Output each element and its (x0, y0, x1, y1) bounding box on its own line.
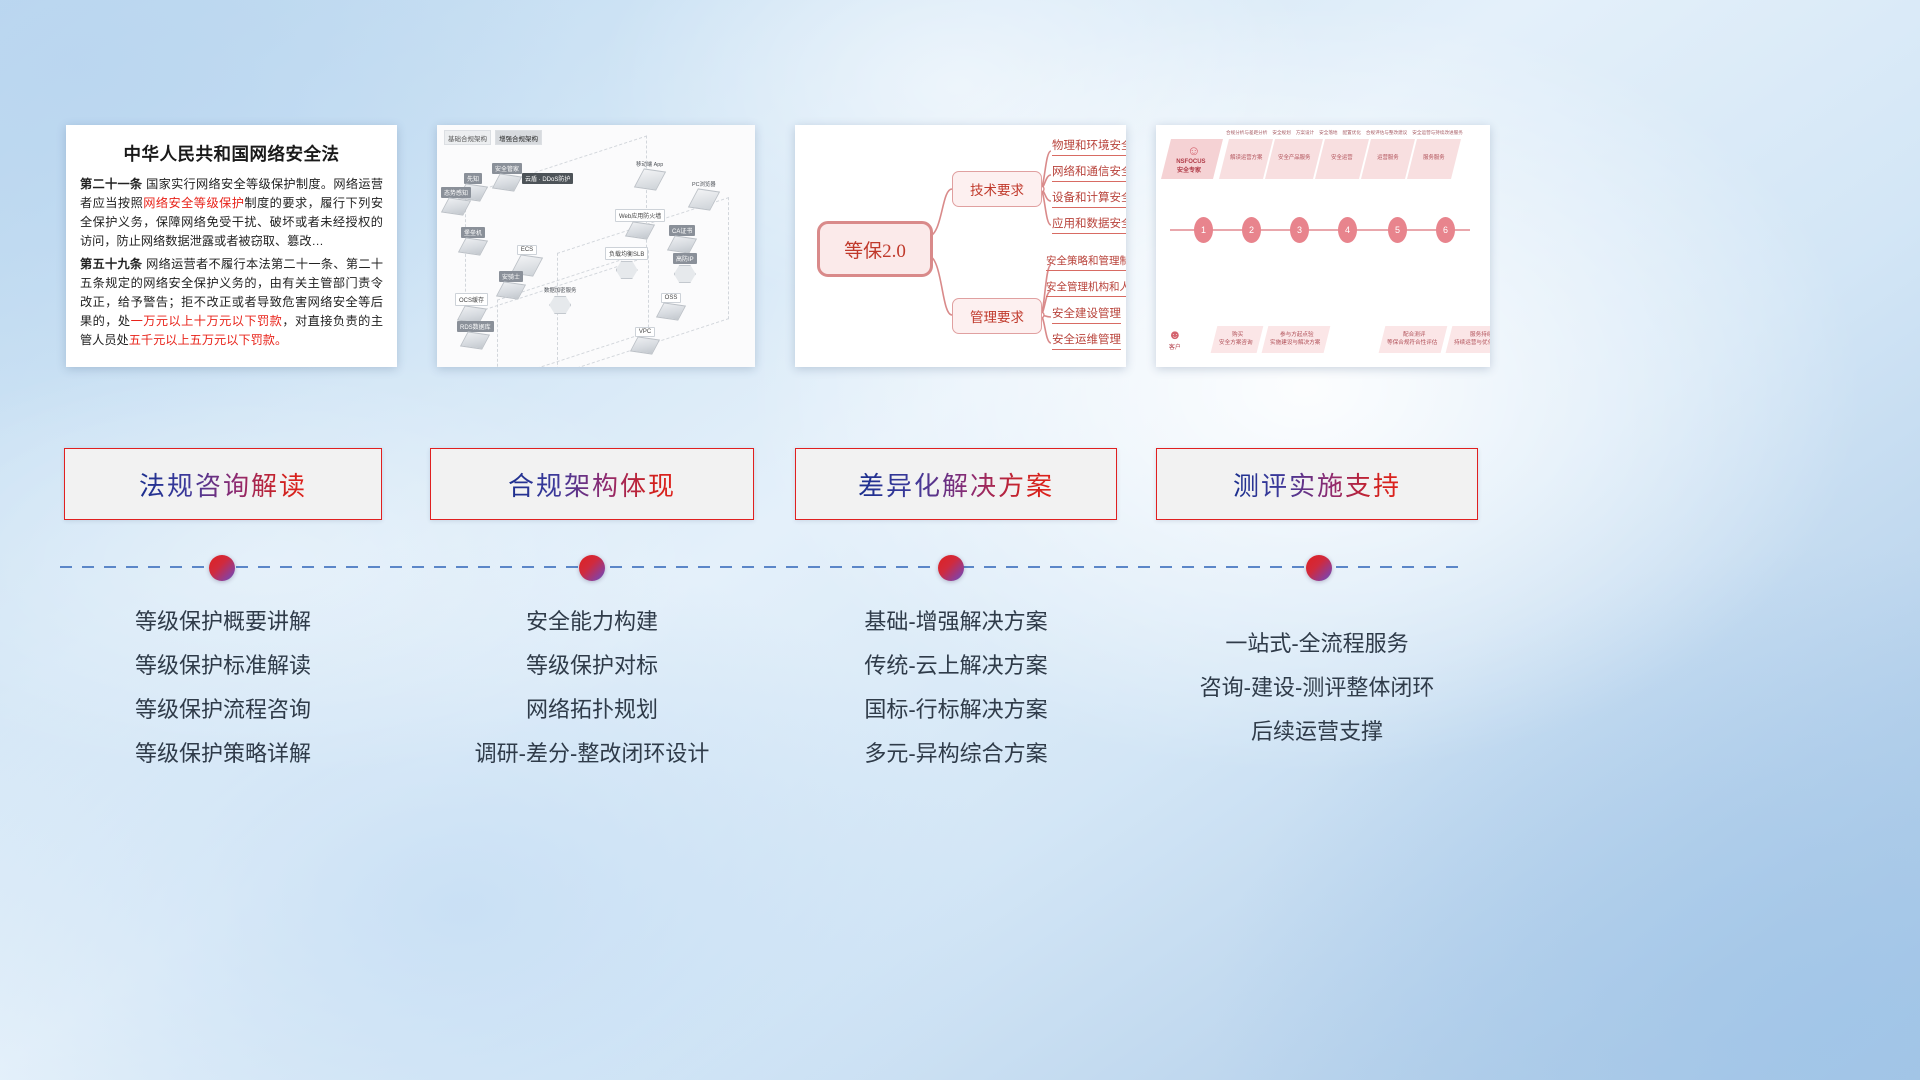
card-architecture-diagram[interactable]: 基础合规架构 增强合规架构 云盾 · DDoS防护 安全管家 先知 态势感知 (437, 125, 755, 367)
node-situational-awareness: 态势感知 (441, 187, 471, 214)
list-item: 咨询-建设-测评整体闭环 (1156, 666, 1478, 710)
nsfocus-customer-badge: ☻ 客户 (1168, 327, 1182, 351)
list-item: 网络拓扑规划 (430, 688, 754, 732)
node-slb: 负载均衡SLB (605, 247, 648, 279)
foot-chip-0: 购买安全方案咨询 (1211, 326, 1263, 353)
card-law-document[interactable]: 中华人民共和国网络安全法 第二十一条 国家实行网络安全等级保护制度。网络运营者应… (66, 125, 397, 367)
section-header-label: 合规架构体现 (508, 466, 676, 503)
node-ca-certificate: CA证书 (669, 225, 695, 252)
node-cloud-shield: 云盾 · DDoS防护 (522, 173, 573, 184)
nsfocus-small-labels: 合规分析与差距分析 安全规划 方案设计 安全落地 配置优化 合规评估与整改建议 … (1226, 130, 1463, 136)
section-header-regulation-consulting[interactable]: 法规咨询解读 (64, 448, 382, 520)
nsfocus-expert-badge: ☺ NSFOCUS 安全专家 (1161, 139, 1223, 179)
article-21-label: 第二十一条 (80, 177, 142, 191)
node-security-butler: 安全管家 (492, 163, 522, 190)
timeline-dot-3[interactable] (938, 555, 964, 581)
timeline-dashed-line (60, 566, 1460, 568)
mindmap-leaf-policy: 安全策略和管理制度 (1046, 253, 1126, 271)
node-data-encryption: 数据加密服务 (541, 285, 579, 314)
card-nsfocus-timeline[interactable]: 解读运营方案 安全产品服务 安全运营 运营服务 服务服务 ☺ NSFOCUS 安… (1156, 125, 1490, 367)
node-anti-ddos-ip: 高防IP (673, 253, 697, 283)
foot-chip-3: 服务持续持续运营与优化服务 (1446, 326, 1490, 353)
timeline-dot-4[interactable] (1306, 555, 1332, 581)
list-item: 安全能力构建 (430, 600, 754, 644)
section-header-label: 测评实施支持 (1233, 466, 1401, 503)
step-marker-3: 3 (1290, 217, 1309, 243)
node-vpc: VPC (633, 327, 657, 353)
list-item: 多元-异构综合方案 (795, 732, 1117, 776)
band-chip-0: 解读运营方案 (1219, 139, 1273, 179)
foot-chip-1: 参与方起点验实施建设与解决方案 (1261, 326, 1330, 353)
list-item: 等级保护策略详解 (64, 732, 382, 776)
tab-basic-compliance[interactable]: 基础合规架构 (444, 130, 491, 145)
list-item: 传统-云上解决方案 (795, 644, 1117, 688)
section-header-label: 法规咨询解读 (139, 466, 307, 503)
tab-enhanced-compliance[interactable]: 增强合规架构 (495, 130, 542, 145)
timeline-dot-2[interactable] (579, 555, 605, 581)
list-item: 等级保护流程咨询 (64, 688, 382, 732)
step-marker-2: 2 (1242, 217, 1261, 243)
customer-person-icon: ☻ (1168, 327, 1182, 342)
article-59-highlight-1: 一万元以上十万元以下罚款 (131, 314, 283, 328)
node-oss: OSS (659, 293, 683, 319)
list-item: 国标-行标解决方案 (795, 688, 1117, 732)
node-bastion-host: 堡垒机 (461, 227, 485, 254)
node-waf: Web应用防火墙 (615, 209, 665, 238)
step-marker-5: 5 (1388, 217, 1407, 243)
section-header-compliance-architecture[interactable]: 合规架构体现 (430, 448, 754, 520)
band-chip-4: 服务服务 (1407, 139, 1461, 179)
band-chip-1: 安全产品服务 (1265, 139, 1323, 179)
detail-column-regulation: 等级保护概要讲解 等级保护标准解读 等级保护流程咨询 等级保护策略详解 (64, 600, 382, 776)
mindmap-leaf-physical: 物理和环境安全 (1052, 137, 1126, 156)
step-marker-6: 6 (1436, 217, 1455, 243)
section-header-differentiated-solution[interactable]: 差异化解决方案 (795, 448, 1117, 520)
detail-column-solution: 基础-增强解决方案 传统-云上解决方案 国标-行标解决方案 多元-异构综合方案 (795, 600, 1117, 776)
list-item: 等级保护概要讲解 (64, 600, 382, 644)
section-header-label: 差异化解决方案 (858, 466, 1054, 503)
mindmap-leaf-organization: 安全管理机构和人员 (1046, 279, 1126, 297)
expert-brand: NSFOCUS (1177, 158, 1206, 166)
band-chip-2: 安全运营 (1315, 139, 1369, 179)
timeline-dot-1[interactable] (209, 555, 235, 581)
expert-person-icon: ☺ (1187, 143, 1200, 158)
mindmap-branch-management: 管理要求 (952, 298, 1042, 334)
architecture-tabs: 基础合规架构 增强合规架构 (444, 130, 542, 145)
law-article-21: 第二十一条 国家实行网络安全等级保护制度。网络运营者应当按照网络安全等级保护制度… (80, 175, 383, 252)
list-item: 等级保护对标 (430, 644, 754, 688)
node-ocs-cache: OCS缓存 (455, 293, 488, 322)
law-title: 中华人民共和国网络安全法 (80, 141, 383, 166)
foot-chip-2: 配合测评等保合规符合性评估 (1379, 326, 1448, 353)
article-59-label: 第五十九条 (80, 257, 142, 271)
detail-column-assessment: 一站式-全流程服务 咨询-建设-测评整体闭环 后续运营支撑 (1156, 600, 1478, 754)
expert-role: 安全专家 (1177, 167, 1201, 175)
step-marker-1: 1 (1194, 217, 1213, 243)
mindmap-branch-technical: 技术要求 (952, 171, 1042, 207)
list-item: 基础-增强解决方案 (795, 600, 1117, 644)
section-header-assessment-support[interactable]: 测评实施支持 (1156, 448, 1478, 520)
list-item: 调研-差分-整改闭环设计 (430, 732, 754, 776)
illustration-card-row: 中华人民共和国网络安全法 第二十一条 国家实行网络安全等级保护制度。网络运营者应… (0, 125, 1920, 367)
node-anqishi: 安骑士 (499, 271, 523, 298)
nsfocus-canvas: 解读运营方案 安全产品服务 安全运营 运营服务 服务服务 ☺ NSFOCUS 安… (1156, 125, 1490, 367)
mindmap-leaf-network: 网络和通信安全 (1052, 163, 1126, 182)
detail-column-architecture: 安全能力构建 等级保护对标 网络拓扑规划 调研-差分-整改闭环设计 (430, 600, 754, 776)
article-21-highlight: 网络安全等级保护 (143, 196, 244, 210)
mindmap-leaf-construction: 安全建设管理 (1052, 305, 1121, 324)
node-mobile-app: 移动端 App (633, 159, 666, 189)
section-header-row: 法规咨询解读 合规架构体现 差异化解决方案 测评实施支持 (0, 448, 1920, 520)
mindmap-leaf-operation: 安全运维管理 (1052, 331, 1121, 350)
card-mindmap[interactable]: 等保2.0 技术要求 物理和环境安全 网络和通信安全 设备和计算安全 应用和数据… (795, 125, 1126, 367)
mindmap-root: 等保2.0 (817, 221, 933, 277)
nsfocus-track (1170, 229, 1470, 231)
law-article-59: 第五十九条 网络运营者不履行本法第二十一条、第二十五条规定的网络安全保护义务的，… (80, 255, 383, 351)
article-59-highlight-2: 五千元以上五万元以下罚款。 (129, 333, 287, 347)
architecture-canvas: 基础合规架构 增强合规架构 云盾 · DDoS防护 安全管家 先知 态势感知 (437, 125, 755, 367)
list-item: 一站式-全流程服务 (1156, 622, 1478, 666)
node-rds-database: RDS数据库 (457, 321, 494, 348)
mindmap-canvas: 等保2.0 技术要求 物理和环境安全 网络和通信安全 设备和计算安全 应用和数据… (795, 125, 1126, 367)
mindmap-leaf-device: 设备和计算安全 (1052, 189, 1126, 208)
law-document-body: 中华人民共和国网络安全法 第二十一条 国家实行网络安全等级保护制度。网络运营者应… (66, 125, 397, 367)
list-item: 后续运营支撑 (1156, 710, 1478, 754)
band-chip-3: 运营服务 (1361, 139, 1415, 179)
mindmap-leaf-application: 应用和数据安全 (1052, 215, 1126, 234)
nsfocus-footer-chips: 购买安全方案咨询 参与方起点验实施建设与解决方案 配合测评等保合规符合性评估 服… (1214, 326, 1490, 353)
step-marker-4: 4 (1338, 217, 1357, 243)
node-pc-browser: PC浏览器 (689, 179, 719, 209)
list-item: 等级保护标准解读 (64, 644, 382, 688)
